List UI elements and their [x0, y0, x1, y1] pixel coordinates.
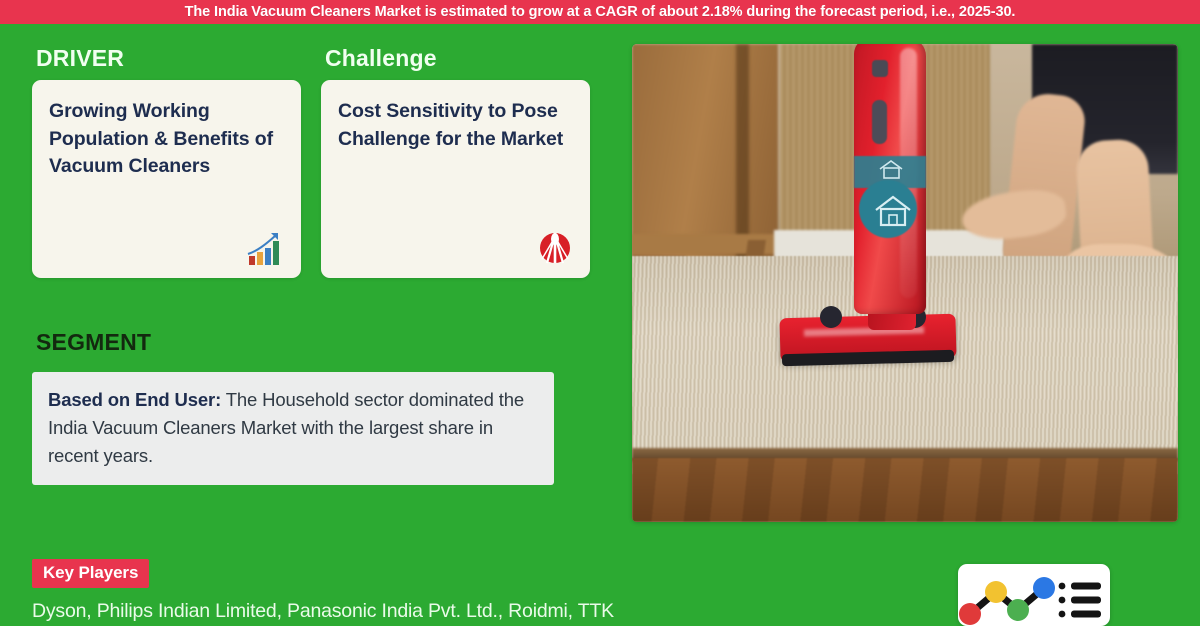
driver-heading: DRIVER — [36, 46, 301, 71]
photo-vacuum-wheel-left — [820, 306, 842, 328]
vacuum-cleaner-photo — [632, 44, 1178, 522]
photo-vacuum-house-icon — [870, 190, 916, 235]
key-players-list: Dyson, Philips Indian Limited, Panasonic… — [32, 600, 792, 623]
segment-text: Based on End User: The Household sector … — [48, 386, 536, 469]
challenge-card-title: Cost Sensitivity to Pose Challenge for t… — [338, 98, 573, 153]
key-players-badge: Key Players — [32, 559, 149, 588]
page-body: DRIVER Growing Working Population & Bene… — [0, 24, 1200, 600]
segment-heading: SEGMENT — [36, 329, 151, 356]
insight-card-row: DRIVER Growing Working Population & Bene… — [32, 46, 590, 278]
photo-vacuum-button-top — [872, 60, 888, 77]
growth-bar-chart-icon — [245, 227, 287, 269]
photo-vacuum-house-icon-small — [876, 156, 906, 187]
segment-label: Based on End User: — [48, 389, 221, 410]
photo-cabinet-edge — [736, 44, 749, 262]
challenge-card[interactable]: Cost Sensitivity to Pose Challenge for t… — [321, 80, 590, 278]
top-banner: The India Vacuum Cleaners Market is esti… — [0, 0, 1200, 24]
left-content-column: DRIVER Growing Working Population & Bene… — [0, 24, 612, 600]
challenge-card-wrapper: Challenge Cost Sensitivity to Pose Chall… — [321, 46, 590, 278]
segment-box: Based on End User: The Household sector … — [32, 372, 554, 485]
photo-vacuum-button-lower — [872, 100, 887, 144]
driver-card-wrapper: DRIVER Growing Working Population & Bene… — [32, 46, 301, 278]
red-fan-burst-icon — [534, 227, 576, 269]
challenge-heading: Challenge — [325, 46, 590, 71]
photo-wooden-floor — [632, 458, 1178, 522]
banner-text: The India Vacuum Cleaners Market is esti… — [185, 4, 1016, 20]
driver-card-title: Growing Working Population & Benefits of… — [49, 98, 284, 180]
driver-card[interactable]: Growing Working Population & Benefits of… — [32, 80, 301, 278]
brand-logo[interactable] — [958, 564, 1110, 626]
